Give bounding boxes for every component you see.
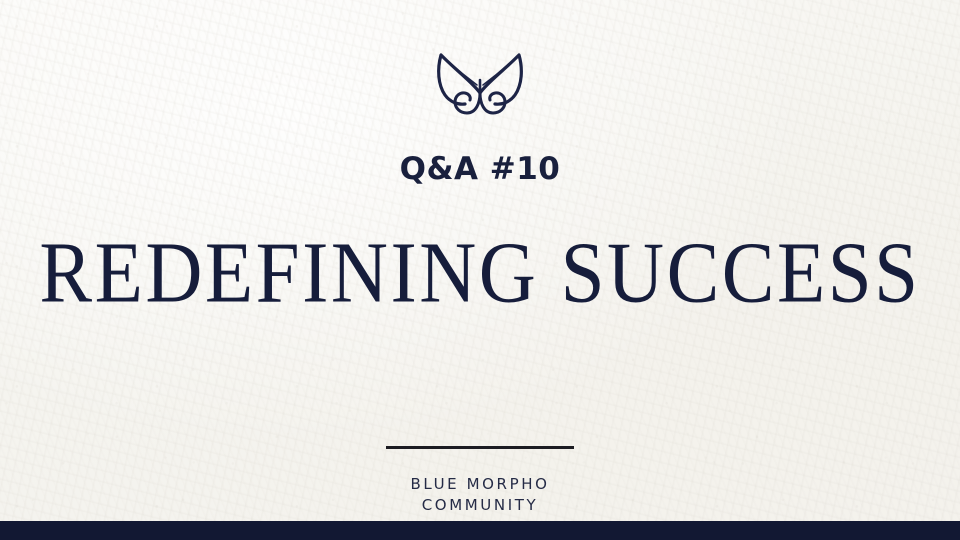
title-divider — [386, 446, 574, 449]
footer-line-community: COMMUNITY — [410, 495, 549, 516]
bottom-accent-bar — [0, 521, 960, 540]
slide-title: REDEFINING SUCCESS — [39, 230, 920, 317]
slide-canvas: Q&A #10 REDEFINING SUCCESS BLUE MORPHO C… — [0, 0, 960, 540]
footer-line-brand: BLUE MORPHO — [410, 474, 549, 495]
slide-content: Q&A #10 REDEFINING SUCCESS BLUE MORPHO C… — [0, 0, 960, 540]
slide-footer: BLUE MORPHO COMMUNITY — [410, 474, 549, 516]
butterfly-icon — [425, 47, 535, 121]
slide-eyebrow: Q&A #10 — [400, 154, 561, 185]
